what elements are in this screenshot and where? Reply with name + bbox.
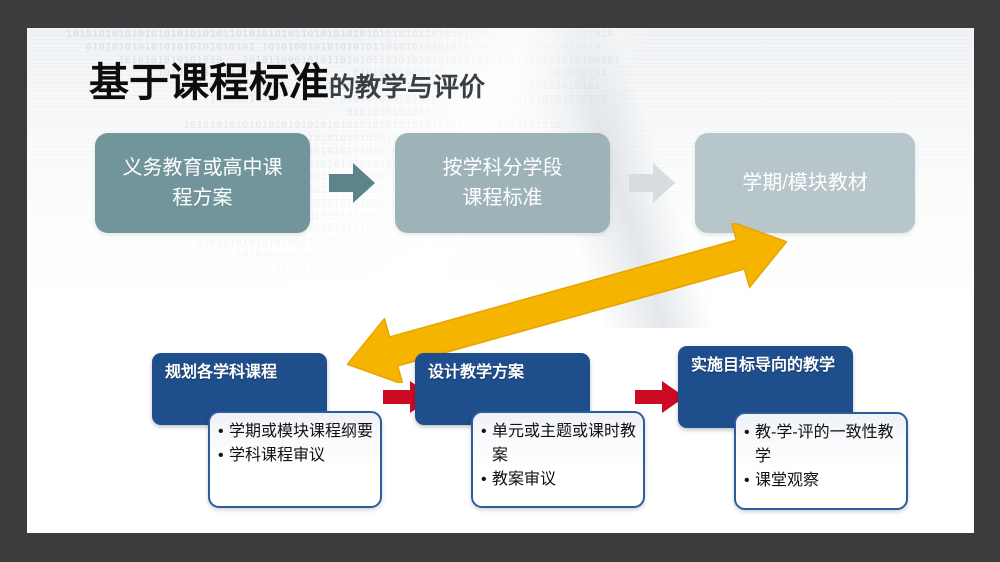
list-item: 单元或主题或课时教案 bbox=[492, 420, 637, 468]
process-card-bullet-list: 学期或模块课程纲要 学科课程审议 bbox=[218, 420, 374, 468]
block-arrow-right-icon bbox=[629, 161, 675, 205]
process-card-goal-oriented-teaching[interactable]: 实施目标导向的教学 教-学-评的一致性教学 课堂观察 bbox=[678, 346, 908, 501]
process-card-bullet-list: 单元或主题或课时教案 教案审议 bbox=[481, 420, 637, 492]
list-item: 课堂观察 bbox=[755, 469, 900, 493]
slide-frame: 1010101010101010101010101101010101011010… bbox=[0, 0, 1000, 562]
list-item: 学科课程审议 bbox=[229, 444, 374, 468]
flow-box-curriculum-plan[interactable]: 义务教育或高中课 程方案 bbox=[95, 133, 310, 233]
flow-box-label: 义务教育或高中课 程方案 bbox=[123, 153, 283, 213]
page-title: 基于课程标准的教学与评价 bbox=[89, 50, 485, 108]
process-card-body: 教-学-评的一致性教学 课堂观察 bbox=[734, 412, 908, 510]
process-card-bullet-list: 教-学-评的一致性教学 课堂观察 bbox=[744, 421, 900, 493]
flow-box-subject-standards[interactable]: 按学科分学段 课程标准 bbox=[395, 133, 610, 233]
process-card-body: 学期或模块课程纲要 学科课程审议 bbox=[208, 411, 382, 508]
block-arrow-right-icon bbox=[329, 161, 375, 205]
list-item: 教-学-评的一致性教学 bbox=[755, 421, 900, 469]
flow-box-term-module-materials[interactable]: 学期/模块教材 bbox=[695, 133, 915, 233]
flow-box-label: 学期/模块教材 bbox=[742, 168, 868, 198]
list-item: 学期或模块课程纲要 bbox=[229, 420, 374, 444]
process-card-body: 单元或主题或课时教案 教案审议 bbox=[471, 411, 645, 508]
process-card-design-teaching[interactable]: 设计教学方案 单元或主题或课时教案 教案审议 bbox=[415, 353, 645, 508]
flow-box-label: 按学科分学段 课程标准 bbox=[443, 153, 563, 213]
page-title-sub: 的教学与评价 bbox=[329, 72, 485, 102]
page-title-main: 基于课程标准 bbox=[89, 61, 329, 105]
slide-canvas: 1010101010101010101010101101010101011010… bbox=[27, 28, 974, 533]
list-item: 教案审议 bbox=[492, 468, 637, 492]
process-card-plan-courses[interactable]: 规划各学科课程 学期或模块课程纲要 学科课程审议 bbox=[152, 353, 382, 508]
